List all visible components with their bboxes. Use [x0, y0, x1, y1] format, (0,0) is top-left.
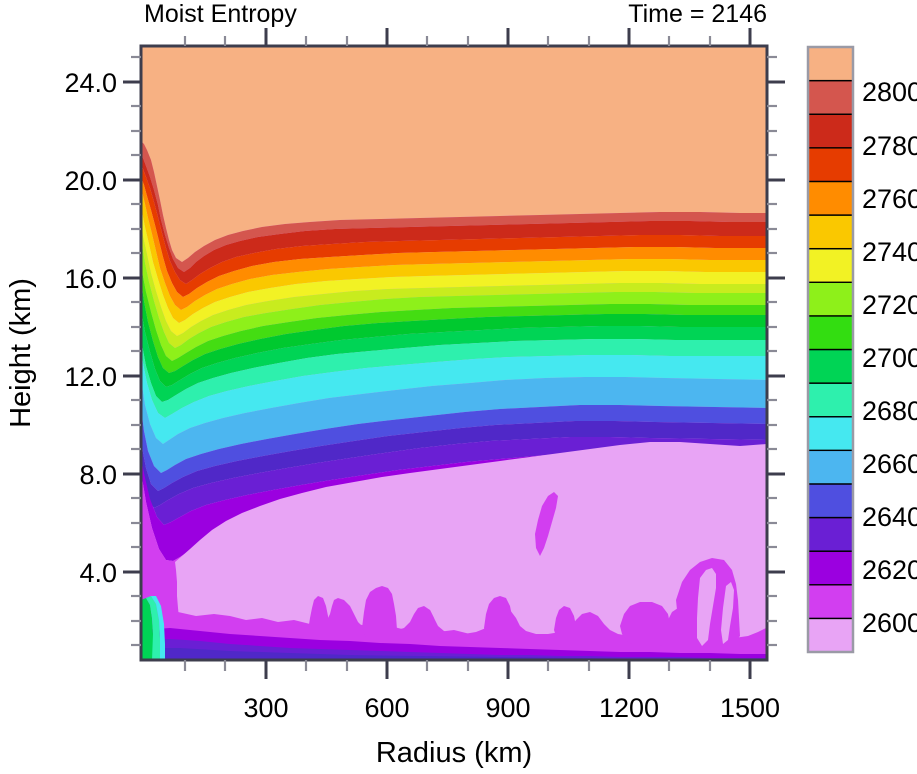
colorbar-swatch-4: [808, 484, 853, 518]
colorbar[interactable]: 2800 2780 2760 2740 2720 2700 2680 2660 …: [808, 47, 917, 652]
colorbar-label-2740: 2740: [862, 237, 917, 267]
x-tick-label-900: 900: [485, 693, 530, 723]
y-tick-label-8: 8.0: [79, 460, 117, 490]
colorbar-swatch-2: [808, 551, 853, 585]
colorbar-swatch-0: [808, 618, 853, 652]
colorbar-label-2760: 2760: [862, 184, 917, 214]
colorbar-swatch-7: [808, 383, 853, 417]
colorbar-swatch-6: [808, 417, 853, 451]
colorbar-swatch-12: [808, 215, 853, 249]
y-axis-label: Height (km): [5, 278, 37, 428]
plot-title-right: Time = 2146: [628, 0, 767, 28]
x-axis-label: Radius (km): [376, 737, 532, 769]
colorbar-swatch-9: [808, 316, 853, 350]
colorbar-label-2800: 2800: [862, 77, 917, 107]
colorbar-swatch-13: [808, 181, 853, 215]
moist-entropy-contour-figure: Moist Entropy Time = 2146: [0, 0, 917, 774]
colorbar-swatch-3: [808, 518, 853, 552]
colorbar-swatch-11: [808, 249, 853, 283]
x-tick-label-300: 300: [243, 693, 288, 723]
plot-panel: [141, 46, 767, 660]
colorbar-swatch-14: [808, 148, 853, 182]
colorbar-label-2640: 2640: [862, 502, 917, 532]
colorbar-swatch-17: [808, 47, 853, 81]
colorbar-label-2680: 2680: [862, 396, 917, 426]
contour-bands: [141, 46, 767, 660]
colorbar-swatch-1: [808, 585, 853, 619]
colorbar-swatch-5: [808, 450, 853, 484]
plot-title-left: Moist Entropy: [144, 0, 297, 28]
colorbar-swatch-15: [808, 114, 853, 148]
colorbar-label-2780: 2780: [862, 131, 917, 161]
y-tick-label-12: 12.0: [64, 362, 117, 392]
colorbar-swatch-10: [808, 282, 853, 316]
colorbar-label-2700: 2700: [862, 343, 917, 373]
colorbar-label-2720: 2720: [862, 290, 917, 320]
colorbar-swatch-16: [808, 81, 853, 115]
y-tick-label-4: 4.0: [79, 558, 117, 588]
colorbar-swatches: [808, 47, 853, 652]
colorbar-label-2600: 2600: [862, 608, 917, 638]
colorbar-label-2620: 2620: [862, 555, 917, 585]
colorbar-swatch-8: [808, 350, 853, 384]
y-tick-label-20: 20.0: [64, 166, 117, 196]
y-tick-label-16: 16.0: [64, 264, 117, 294]
x-tick-label-1200: 1200: [599, 693, 659, 723]
x-tick-label-1500: 1500: [720, 693, 780, 723]
colorbar-label-2660: 2660: [862, 449, 917, 479]
x-tick-label-600: 600: [364, 693, 409, 723]
y-tick-label-24: 24.0: [64, 68, 117, 98]
